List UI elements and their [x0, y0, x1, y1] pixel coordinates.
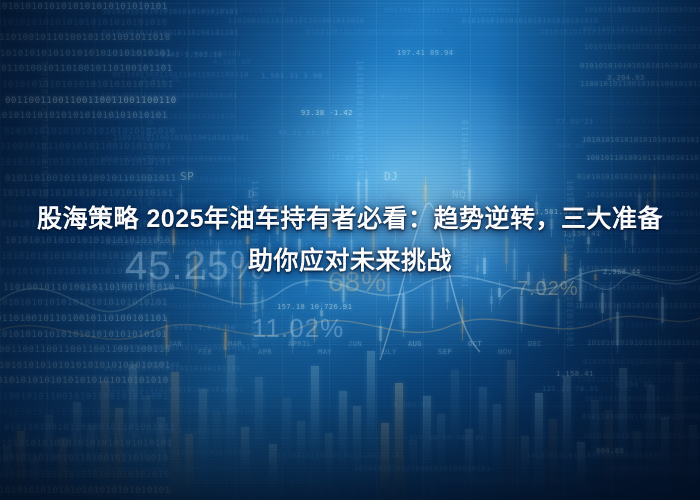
stock-banner-image: 1010101010101010101010101010101010101010… — [0, 0, 700, 500]
right-shadow-overlay — [0, 0, 700, 500]
